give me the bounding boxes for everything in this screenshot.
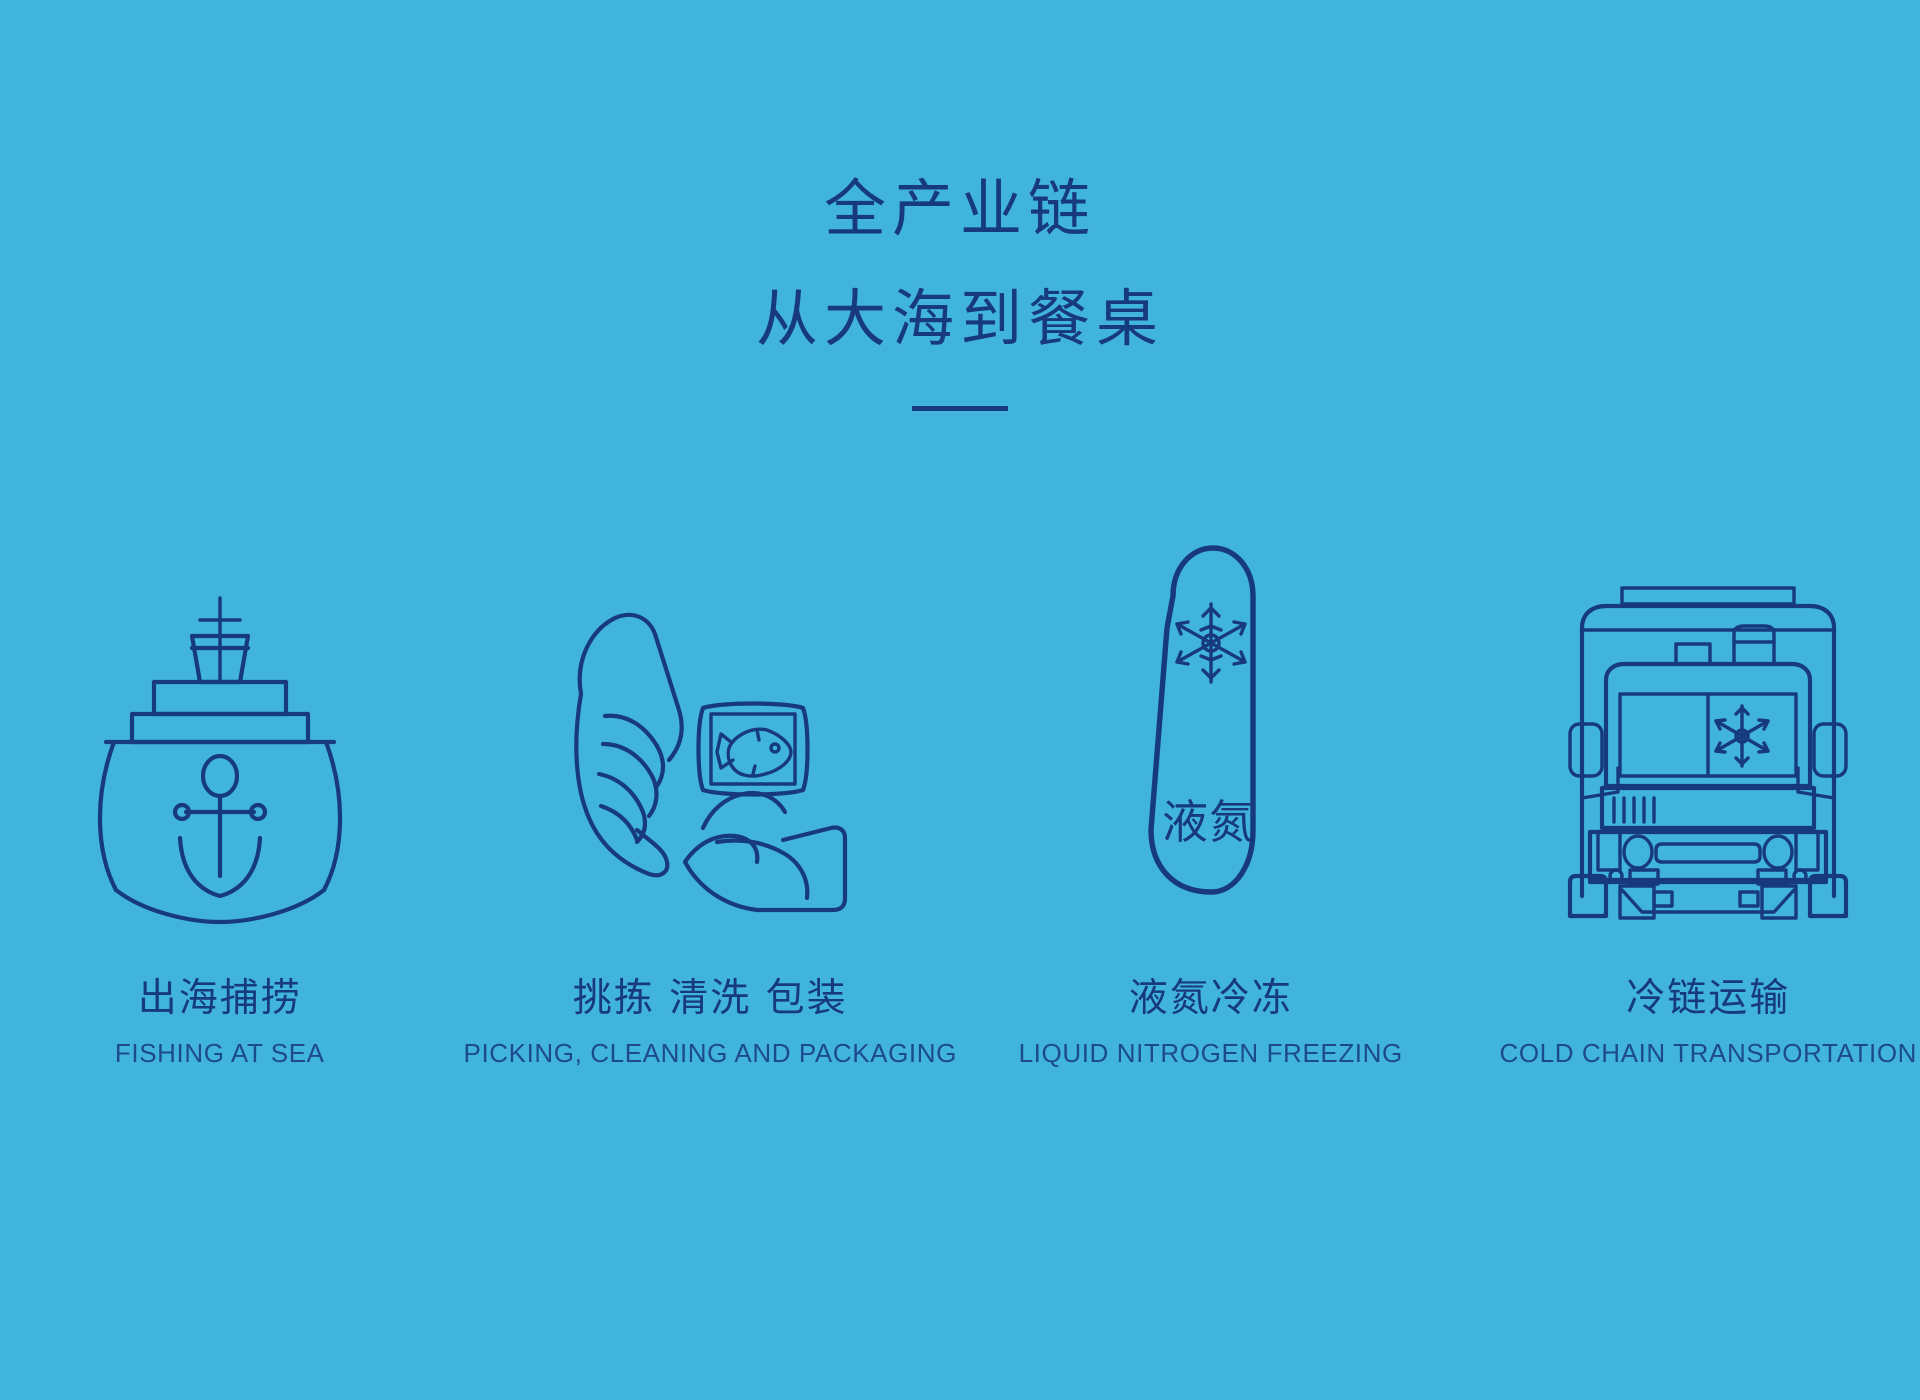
step-label-en: COLD CHAIN TRANSPORTATION	[1499, 1039, 1917, 1068]
step-picking-cleaning-packaging: 挑拣 清洗 包装 PICKING, CLEANING AND PACKAGING	[464, 520, 957, 1067]
step-label-en: FISHING AT SEA	[115, 1039, 325, 1068]
tank-text: 液氮	[1162, 795, 1256, 849]
hands-with-packaged-fish-icon	[545, 520, 875, 920]
infographic-canvas: 全产业链 从大海到餐桌	[0, 0, 1920, 1400]
liquid-nitrogen-tank-icon: 液氮	[1111, 520, 1311, 920]
snowflake-icon	[1177, 604, 1245, 682]
step-liquid-nitrogen-freezing: 液氮 液氮冷冻 LIQUID NITROGEN FREEZING	[973, 520, 1449, 1067]
step-label-en: LIQUID NITROGEN FREEZING	[1019, 1039, 1403, 1068]
snowflake-icon	[1716, 706, 1768, 766]
fishing-boat-icon	[70, 520, 370, 920]
title-divider	[912, 406, 1008, 411]
page-title-block: 全产业链 从大海到餐桌	[0, 178, 1920, 411]
step-label-en: PICKING, CLEANING AND PACKAGING	[464, 1039, 957, 1068]
step-label-cn: 挑拣 清洗 包装	[573, 978, 848, 1021]
step-label-cn: 液氮冷冻	[1129, 978, 1293, 1021]
process-steps: 出海捕捞 FISHING AT SEA	[0, 520, 1920, 1067]
refrigerated-truck-icon	[1558, 520, 1858, 920]
step-cold-chain-transportation: 冷链运输 COLD CHAIN TRANSPORTATION	[1470, 520, 1920, 1067]
step-label-cn: 冷链运输	[1626, 978, 1790, 1021]
page-title-line-2: 从大海到餐桌	[0, 288, 1920, 350]
step-label-cn: 出海捕捞	[138, 978, 302, 1021]
step-fishing-at-sea: 出海捕捞 FISHING AT SEA	[0, 520, 458, 1067]
page-title-line-1: 全产业链	[0, 178, 1920, 240]
